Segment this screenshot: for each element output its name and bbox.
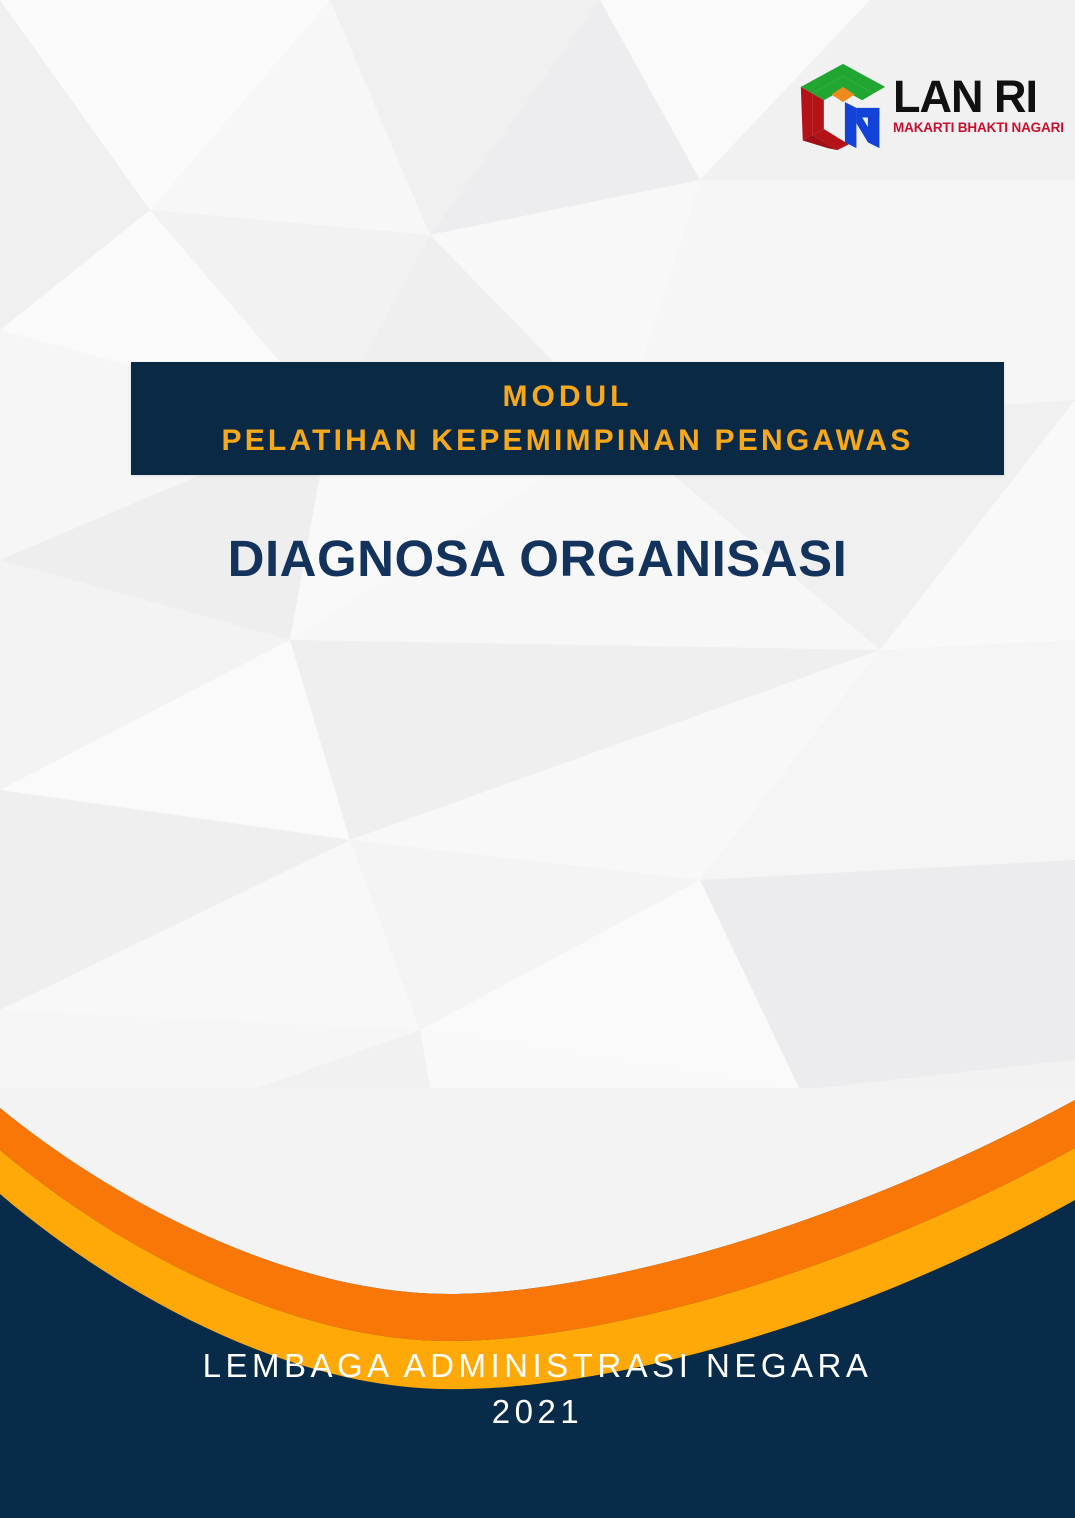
lan-ri-logo: LAN RI MAKARTI BHAKTI NAGARI [795, 56, 1060, 156]
module-banner: MODUL PELATIHAN KEPEMIMPINAN PENGAWAS [131, 362, 1004, 475]
banner-line-pelatihan: PELATIHAN KEPEMIMPINAN PENGAWAS [221, 422, 913, 460]
logo-tagline: MAKARTI BHAKTI NAGARI [893, 121, 1064, 136]
lan-ri-logo-mark [795, 60, 891, 152]
banner-line-modul: MODUL [503, 378, 633, 416]
footer-year: 2021 [0, 1391, 1075, 1433]
footer: LEMBAGA ADMINISTRASI NEGARA 2021 [0, 1345, 1075, 1433]
footer-organization: LEMBAGA ADMINISTRASI NEGARA [0, 1345, 1075, 1387]
logo-title: LAN RI [893, 76, 1064, 119]
bottom-wave-decoration [0, 1088, 1075, 1518]
document-cover-page: LAN RI MAKARTI BHAKTI NAGARI MODUL PELAT… [0, 0, 1075, 1518]
page-title: DIAGNOSA ORGANISASI [0, 529, 1075, 588]
